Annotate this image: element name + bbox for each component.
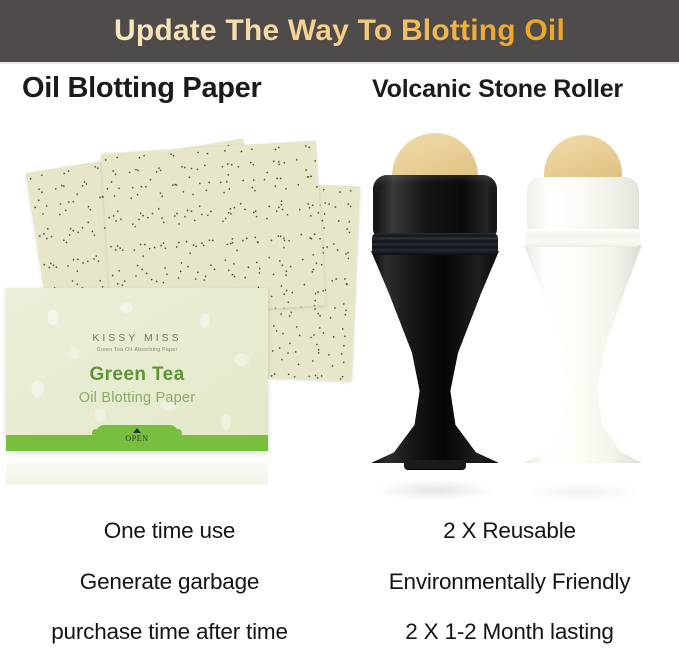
package-reflection: [6, 451, 268, 485]
benefit-item: 2 X 1-2 Month lasting: [340, 621, 679, 644]
benefit-item: Environmentally Friendly: [340, 571, 679, 594]
benefit-item: Generate garbage: [0, 571, 339, 594]
package-brand-subtitle: Green Tea Oil-Absorbing Paper: [6, 347, 268, 353]
roller-collar: [527, 177, 639, 235]
package-brand-name: KISSY MISS: [6, 332, 268, 344]
roller-black: [360, 133, 510, 483]
roller-body: [371, 251, 499, 463]
package-subtitle: Oil Blotting Paper: [6, 390, 268, 406]
heading-volcanic-stone-roller: Volcanic Stone Roller: [372, 75, 623, 104]
benefits-left-column: One time use Generate garbage purchase t…: [0, 508, 339, 644]
roller-ridge-band: [526, 229, 640, 247]
heading-oil-blotting-paper: Oil Blotting Paper: [22, 72, 262, 105]
package-open-tab: OPEN: [96, 425, 178, 451]
package-title: Green Tea: [6, 364, 268, 386]
roller-white: [508, 135, 658, 485]
benefit-item: purchase time after time: [0, 621, 339, 644]
blotting-paper-package: KISSY MISS Green Tea Oil-Absorbing Paper…: [6, 288, 268, 451]
benefit-item: 2 X Reusable: [340, 520, 679, 543]
section-headings: Oil Blotting Paper Volcanic Stone Roller: [0, 72, 679, 120]
roller-collar: [373, 175, 497, 239]
benefits-section: One time use Generate garbage purchase t…: [0, 508, 679, 651]
roller-reflection: [375, 479, 495, 501]
header-banner: Update The Way To Blotting Oil: [0, 0, 679, 62]
roller-body: [524, 245, 642, 463]
benefits-right-column: 2 X Reusable Environmentally Friendly 2 …: [340, 508, 679, 644]
header-divider: [0, 62, 679, 64]
triangle-up-icon: [133, 428, 141, 433]
benefit-item: One time use: [0, 520, 339, 543]
page-title: Update The Way To Blotting Oil: [114, 14, 565, 48]
roller-ridge-band: [372, 233, 498, 255]
package-open-label: OPEN: [96, 434, 178, 443]
blotting-paper-product-image: KISSY MISS Green Tea Oil-Absorbing Paper…: [0, 125, 340, 505]
roller-reflection: [523, 481, 643, 503]
roller-base-rim: [404, 460, 466, 469]
volcanic-roller-product-image: [340, 125, 679, 505]
